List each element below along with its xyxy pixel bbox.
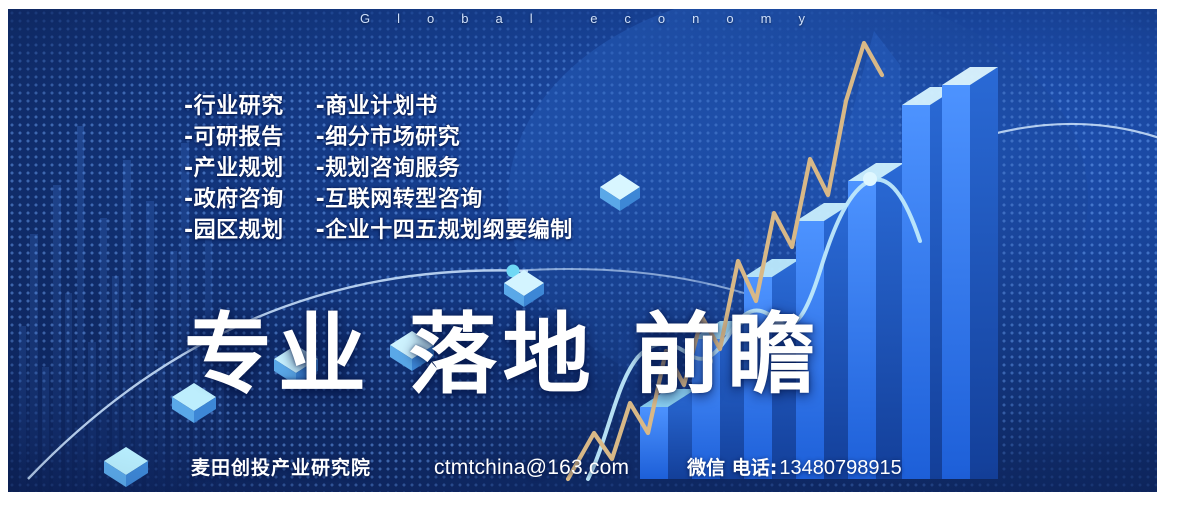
service-item: -可研报告: [184, 122, 284, 153]
service-lists: -行业研究 -可研报告 -产业规划 -政府咨询 -园区规划 -商业计划书 -细分…: [184, 91, 573, 246]
banner-footer: 麦田创投产业研究院 ctmtchina@163.com 微信 电话: 13480…: [191, 453, 902, 480]
service-item: -企业十四五规划纲要编制: [316, 215, 573, 246]
service-item: -商业计划书: [316, 91, 573, 122]
contact-email: ctmtchina@163.com: [434, 456, 629, 480]
service-item: -细分市场研究: [316, 122, 573, 153]
service-item: -规划咨询服务: [316, 153, 573, 184]
banner-headline: 专业 落地 前瞻: [184, 309, 821, 401]
service-list-right: -商业计划书 -细分市场研究 -规划咨询服务 -互联网转型咨询 -企业十四五规划…: [316, 91, 573, 246]
service-item: -政府咨询: [184, 184, 284, 215]
promo-banner: Global economy -行业研究 -可研报告 -产业规划 -政府咨询 -…: [8, 9, 1157, 492]
banner-kicker: Global economy: [8, 11, 1157, 26]
service-item: -产业规划: [184, 153, 284, 184]
chart-node-dot: [863, 172, 877, 186]
service-item: -行业研究: [184, 91, 284, 122]
wechat-phone-label: 微信 电话:: [687, 453, 777, 480]
service-item: -园区规划: [184, 215, 284, 246]
service-list-left: -行业研究 -可研报告 -产业规划 -政府咨询 -园区规划: [184, 91, 284, 246]
service-item: -互联网转型咨询: [316, 184, 573, 215]
chart-graphics: [8, 9, 1157, 492]
contact-phone: 13480798915: [779, 457, 901, 480]
organization-name: 麦田创投产业研究院: [191, 453, 371, 480]
